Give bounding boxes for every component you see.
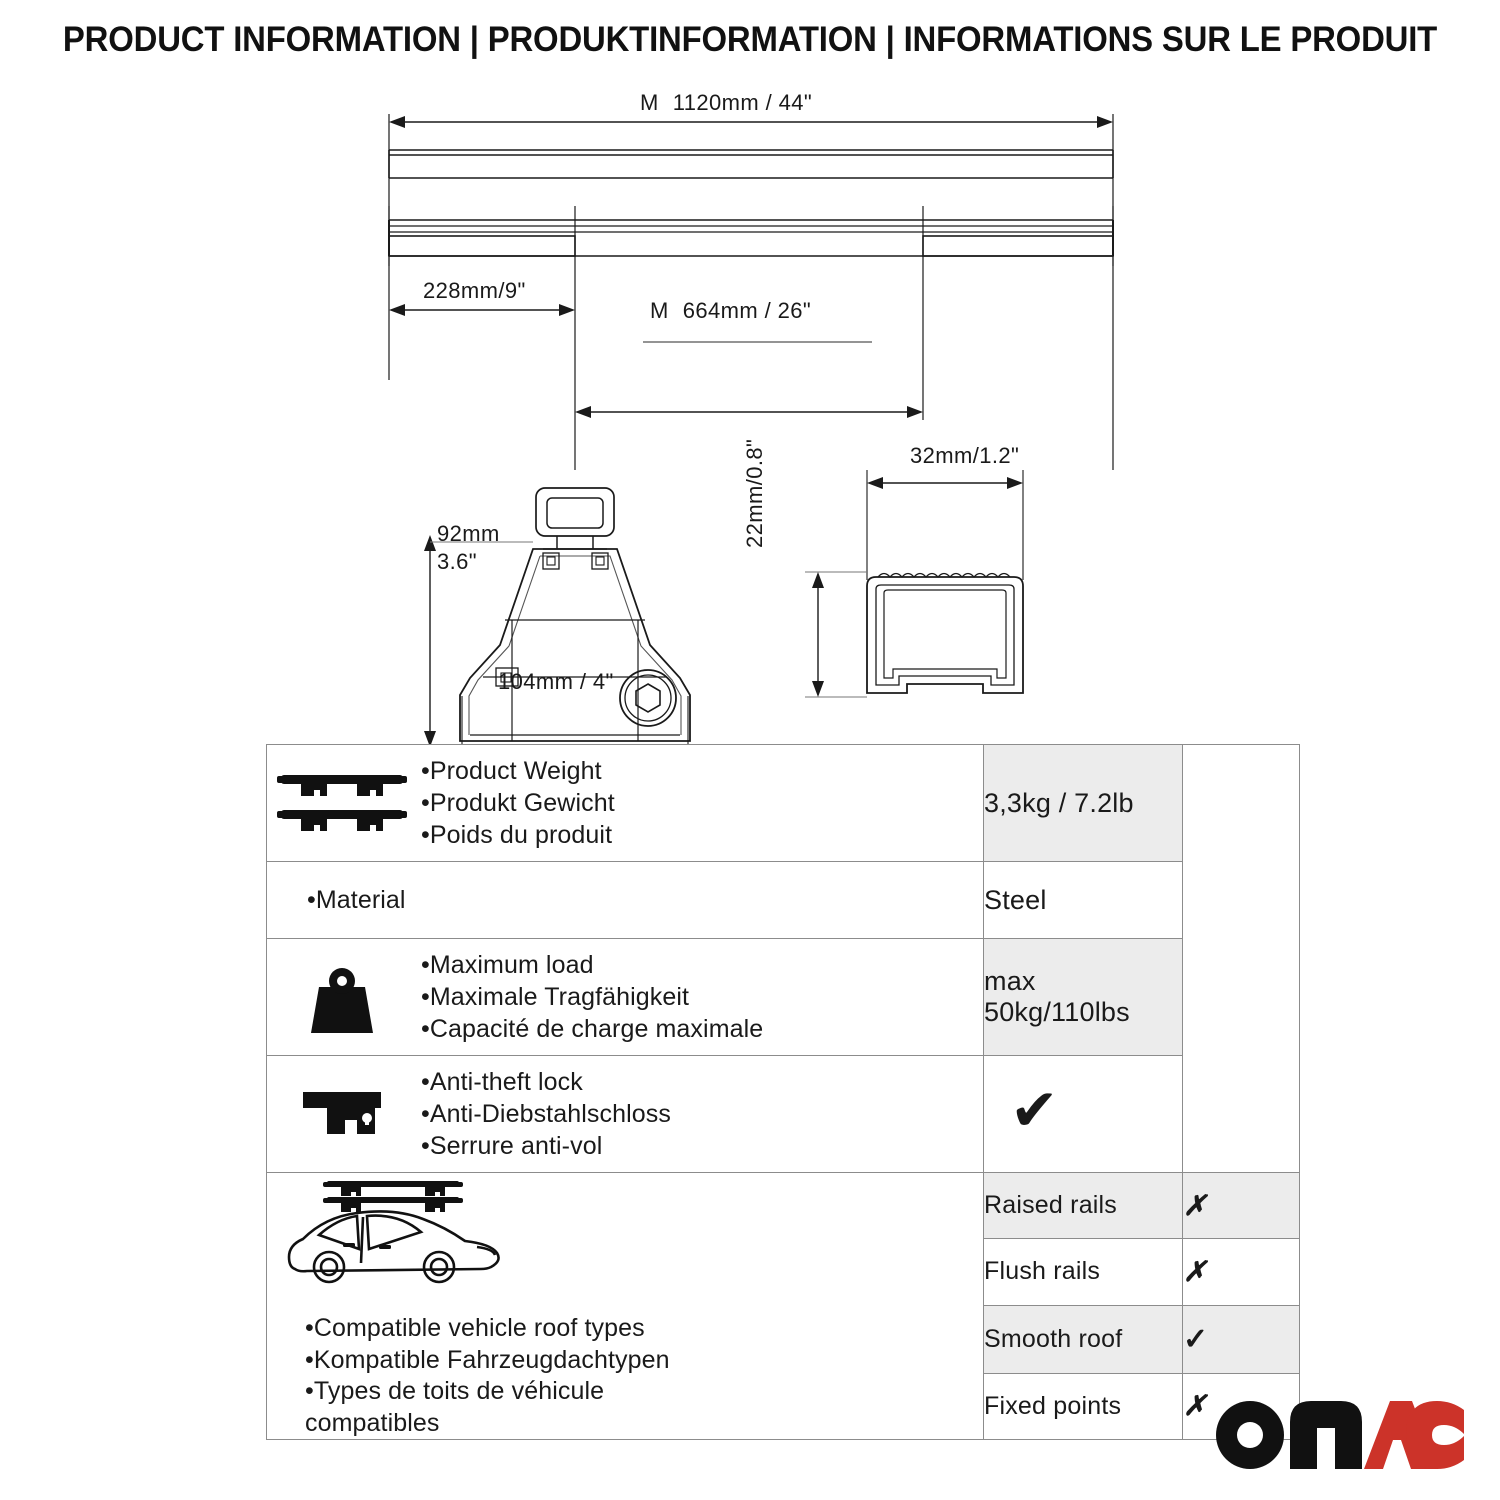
spec-label-line: •Material: [307, 884, 973, 916]
checkmark-icon: ✓: [1183, 1323, 1208, 1356]
page-title: PRODUCT INFORMATION | PRODUKTINFORMATION…: [45, 20, 1455, 60]
spec-label-text: •Material: [307, 862, 983, 938]
spec-label-cell: •Product Weight •Produkt Gewicht •Poids …: [267, 745, 984, 862]
spec-label-line: •Capacité de charge maximale: [421, 1013, 973, 1045]
spec-label-line: •Product Weight: [421, 755, 973, 787]
spec-value-max-load: max 50kg/110lbs: [984, 939, 1183, 1056]
dim-bar-length-prefix: M: [640, 90, 659, 115]
roof-type-name-raised-rails: Raised rails: [984, 1173, 1183, 1239]
dim-profile-height: 22mm/0.8": [742, 439, 768, 548]
spec-label-text: •Product Weight •Produkt Gewicht •Poids …: [417, 745, 983, 861]
table-row: •Anti-theft lock •Anti-Diebstahlschloss …: [267, 1056, 1300, 1173]
compat-label-line: •Kompatible Fahrzeugdachtypen: [305, 1345, 983, 1377]
dim-profile-width: 32mm/1.2": [910, 443, 1019, 469]
dim-bar-span-prefix: M: [650, 298, 669, 323]
spec-label-line: •Maximale Tragfähigkeit: [421, 981, 973, 1013]
roof-type-name-flush-rails: Flush rails: [984, 1239, 1183, 1305]
dim-foot-width: 104mm / 4": [498, 669, 614, 695]
dim-foot-height-in: 3.6": [437, 548, 500, 576]
roof-type-mark-flush-rails: ✗: [1183, 1239, 1300, 1305]
dim-foot-height: 92mm 3.6": [437, 520, 500, 575]
omac-logo: [1214, 1398, 1464, 1472]
table-row: •Material Steel: [267, 862, 1300, 939]
technical-drawing: M1120mm / 44" 228mm/9" M664mm / 26" 92mm…: [0, 80, 1500, 740]
dim-bar-span-value: 664mm / 26": [683, 298, 811, 323]
compatibility-label-text: •Compatible vehicle roof types •Kompatib…: [267, 1303, 983, 1439]
dim-profile-height-value: 22mm/0.8": [742, 439, 767, 548]
lock-icon: [267, 1078, 417, 1150]
header: PRODUCT INFORMATION | PRODUKTINFORMATION…: [0, 20, 1500, 60]
dim-bar-length-value: 1120mm / 44": [673, 90, 812, 115]
compat-label-line: •Compatible vehicle roof types: [305, 1313, 983, 1345]
cross-icon: ✗: [1183, 1390, 1206, 1421]
spec-label-text: •Maximum load •Maximale Tragfähigkeit •C…: [417, 939, 983, 1055]
spec-label-line: •Produkt Gewicht: [421, 787, 973, 819]
dim-bar-length: M1120mm / 44": [640, 90, 812, 116]
spec-label-line: •Anti-theft lock: [421, 1066, 973, 1098]
table-row: •Product Weight •Produkt Gewicht •Poids …: [267, 745, 1300, 862]
roof-type-name-smooth-roof: Smooth roof: [984, 1305, 1183, 1373]
spec-value-anti-theft: ✔: [984, 1056, 1183, 1173]
compat-label-line: compatibles: [305, 1408, 983, 1440]
dim-foot-height-mm: 92mm: [437, 520, 500, 548]
dim-foot-width-value: 104mm / 4": [498, 669, 614, 694]
spec-label-text: •Anti-theft lock •Anti-Diebstahlschloss …: [417, 1056, 983, 1172]
dim-foot-offset-value: 228mm/9": [423, 278, 526, 303]
dim-bar-span: M664mm / 26": [650, 298, 811, 324]
spec-label-cell: •Anti-theft lock •Anti-Diebstahlschloss …: [267, 1056, 984, 1173]
specification-table: •Product Weight •Produkt Gewicht •Poids …: [266, 744, 1300, 1440]
dim-profile-width-value: 32mm/1.2": [910, 443, 1019, 468]
drawing-svg: [0, 80, 1500, 740]
car-with-roof-rack-icon: [267, 1173, 983, 1303]
spec-label-cell: •Maximum load •Maximale Tragfähigkeit •C…: [267, 939, 984, 1056]
spec-label-line: •Poids du produit: [421, 819, 973, 851]
spec-value-material: Steel: [984, 862, 1183, 939]
table-row: •Maximum load •Maximale Tragfähigkeit •C…: [267, 939, 1300, 1056]
spec-label-cell: •Material: [267, 862, 984, 939]
cross-icon: ✗: [1183, 1190, 1206, 1221]
weight-icon: [267, 957, 417, 1037]
checkmark-icon: ✔: [984, 1078, 1182, 1150]
compatibility-label-cell: •Compatible vehicle roof types •Kompatib…: [267, 1173, 984, 1440]
roof-type-mark-raised-rails: ✗: [1183, 1173, 1300, 1239]
compat-label-line: •Types de toits de véhicule: [305, 1376, 983, 1408]
roof-type-mark-smooth-roof: ✓: [1183, 1305, 1300, 1373]
spec-label-line: •Serrure anti-vol: [421, 1130, 973, 1162]
spec-label-line: •Maximum load: [421, 949, 973, 981]
spec-label-line: •Anti-Diebstahlschloss: [421, 1098, 973, 1130]
roof-bars-icon: [267, 767, 417, 839]
dim-foot-offset: 228mm/9": [423, 278, 526, 304]
omac-logo-svg: [1214, 1398, 1464, 1472]
table-row-compatibility: •Compatible vehicle roof types •Kompatib…: [267, 1173, 1300, 1239]
product-information-sheet: PRODUCT INFORMATION | PRODUKTINFORMATION…: [0, 0, 1500, 1500]
spec-value-product-weight: 3,3kg / 7.2lb: [984, 745, 1183, 862]
roof-type-name-fixed-points: Fixed points: [984, 1373, 1183, 1439]
cross-icon: ✗: [1183, 1256, 1206, 1287]
